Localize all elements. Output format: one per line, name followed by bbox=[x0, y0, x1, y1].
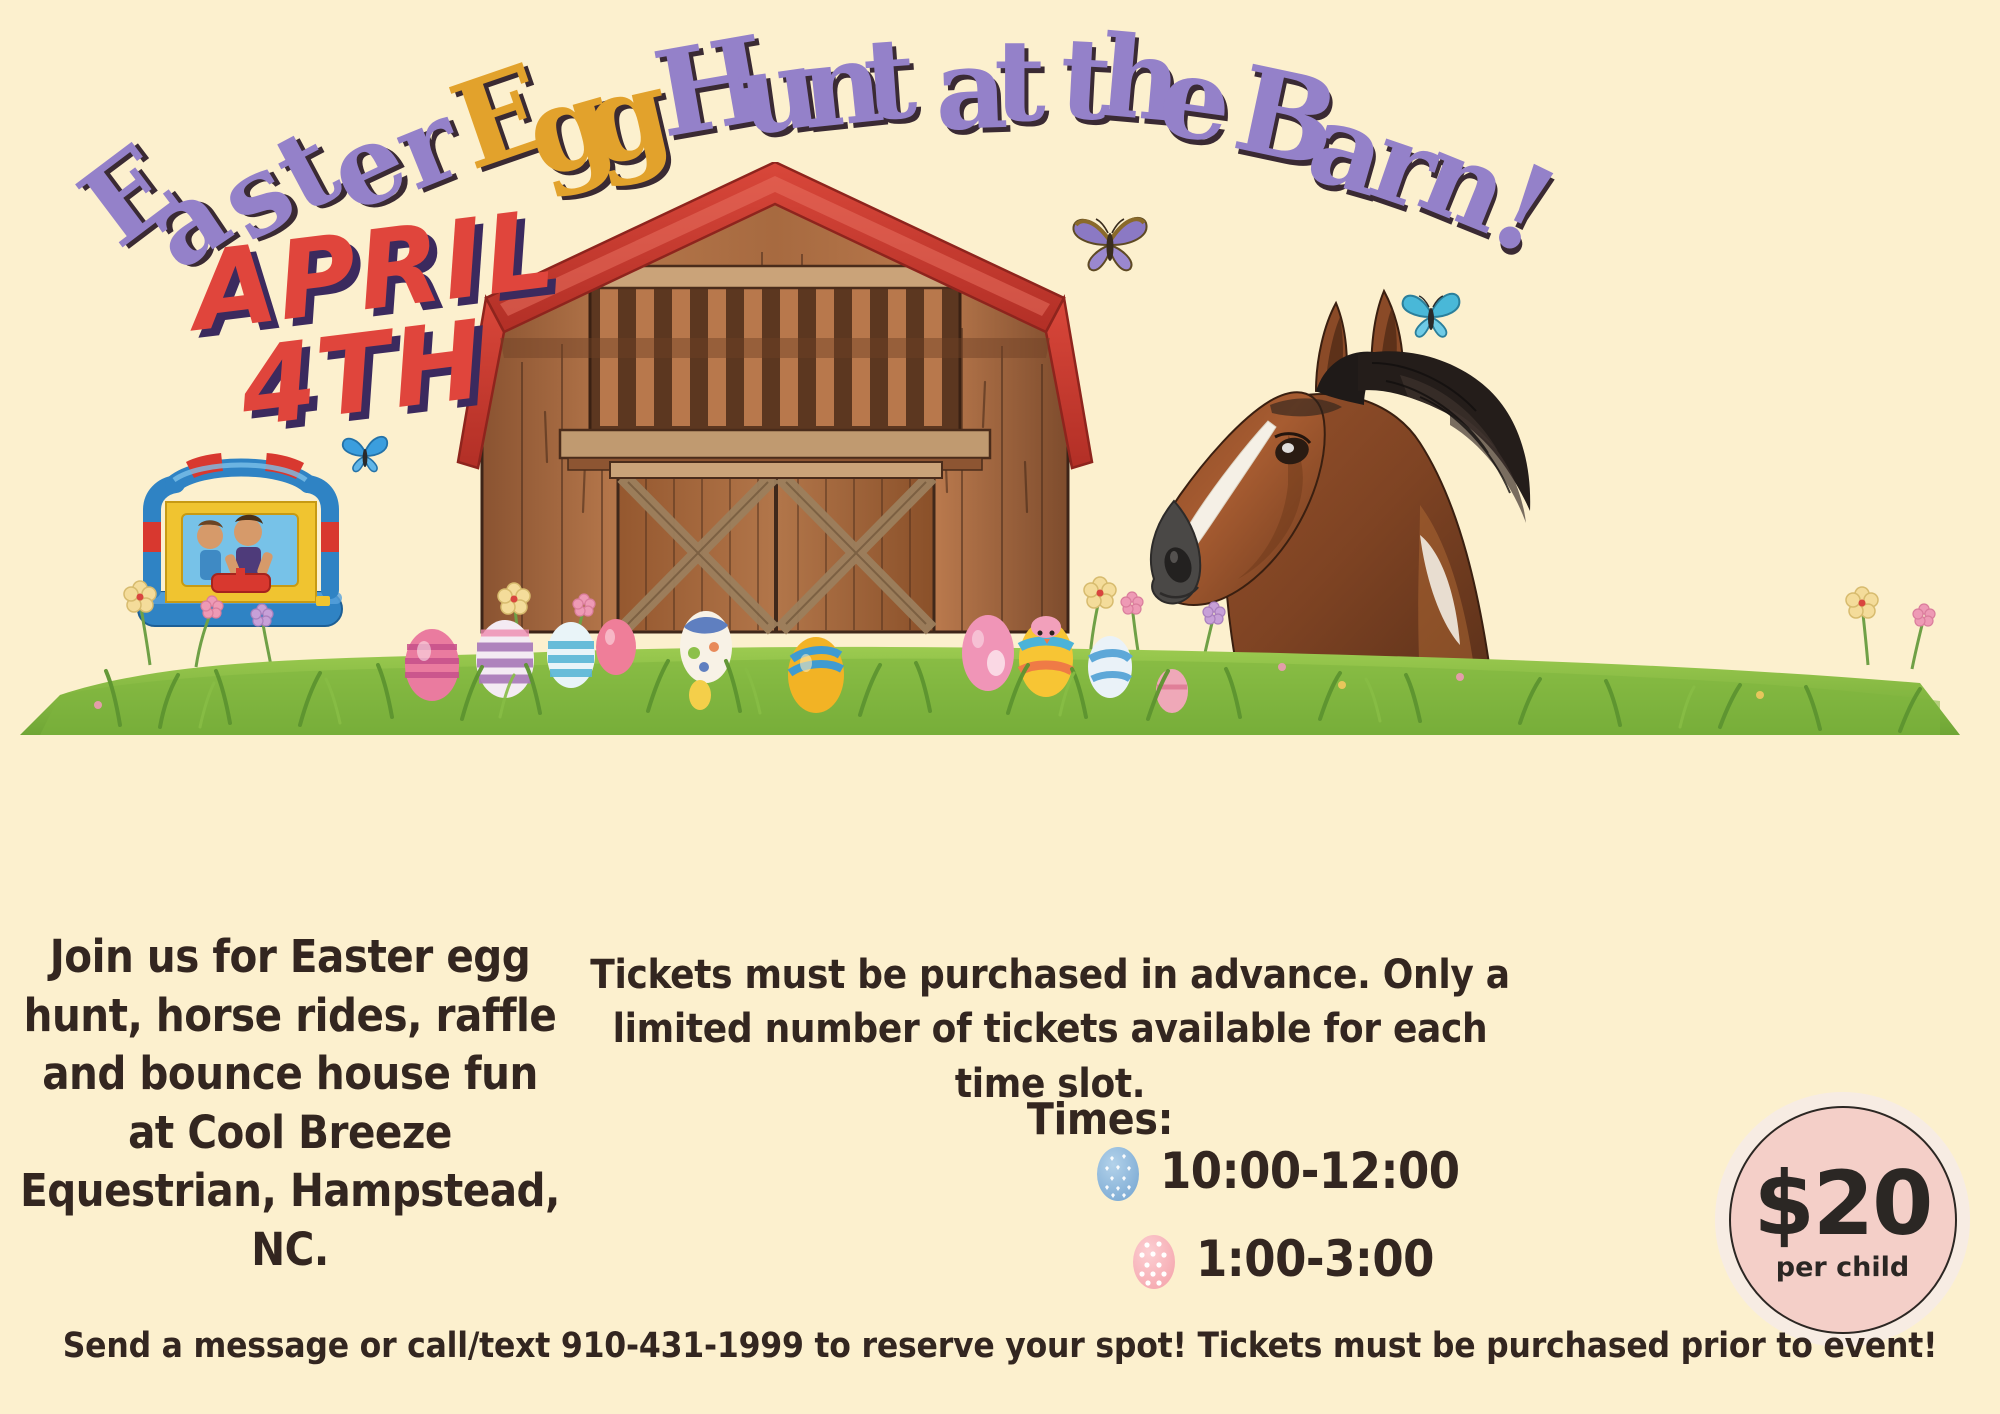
event-description: Join us for Easter egg hunt, horse rides… bbox=[20, 928, 560, 1279]
egg-pink-tiny bbox=[1156, 669, 1188, 713]
price-amount: $20 bbox=[1754, 1164, 1932, 1245]
egg-purple-striped bbox=[476, 620, 534, 698]
egg-pink-plain bbox=[596, 619, 636, 675]
egg-white-dotted bbox=[680, 611, 732, 683]
status-badge: $20 per child bbox=[1715, 1092, 1970, 1347]
blue-butterfly-icon bbox=[340, 430, 390, 475]
title-letter: n bbox=[795, 26, 888, 146]
title-letter: t bbox=[860, 22, 919, 137]
title-letter: e bbox=[1153, 40, 1239, 161]
time-slot-afternoon-text: 1:00-3:00 bbox=[1196, 1230, 1434, 1288]
title-letter: e bbox=[313, 103, 421, 230]
egg-chick-yellow bbox=[1019, 616, 1073, 697]
time-slot-afternoon: 1:00-3:00 bbox=[1130, 1228, 1434, 1290]
time-slot-morning: 10:00-12:00 bbox=[1094, 1140, 1460, 1202]
egg-blue-striped bbox=[547, 622, 595, 688]
title-letter: h bbox=[1095, 21, 1186, 140]
title-letter: t bbox=[994, 26, 1046, 138]
ticket-notice: Tickets must be purchased in advance. On… bbox=[580, 948, 1520, 1111]
title-letter: a bbox=[128, 158, 246, 287]
title-letter: u bbox=[731, 31, 827, 153]
grass-strip-illustration bbox=[0, 555, 2000, 735]
blue-egg-icon bbox=[1094, 1140, 1142, 1202]
egg-yellow-blue bbox=[788, 637, 844, 713]
time-slot-morning-text: 10:00-12:00 bbox=[1160, 1142, 1460, 1200]
title-letter: t bbox=[260, 111, 355, 230]
times-label: Times: bbox=[900, 1094, 1300, 1145]
egg-blue-white bbox=[1088, 636, 1132, 698]
title-letter: B bbox=[1226, 49, 1348, 185]
price-badge-inner: $20 per child bbox=[1729, 1106, 1957, 1334]
teal-butterfly-icon bbox=[1400, 285, 1462, 340]
egg-pink-large bbox=[962, 615, 1014, 691]
purple-butterfly-icon bbox=[1070, 205, 1150, 275]
title-letter: H bbox=[647, 19, 777, 155]
egg-pink-striped bbox=[405, 629, 459, 701]
egg-small-yellow bbox=[689, 680, 711, 710]
title-letter: E bbox=[64, 128, 195, 264]
contact-footer: Send a message or call/text 910-431-1999… bbox=[40, 1326, 1960, 1366]
flyer-canvas: EasterEggHuntattheBarn! APRIL 4TH Join u… bbox=[0, 0, 2000, 1414]
title-letter: t bbox=[1057, 23, 1115, 138]
price-unit: per child bbox=[1776, 1252, 1909, 1283]
pink-egg-icon bbox=[1130, 1228, 1178, 1290]
title-letter: s bbox=[203, 134, 311, 258]
title-letter: a bbox=[1298, 86, 1399, 214]
title-letter: a bbox=[933, 33, 1009, 147]
